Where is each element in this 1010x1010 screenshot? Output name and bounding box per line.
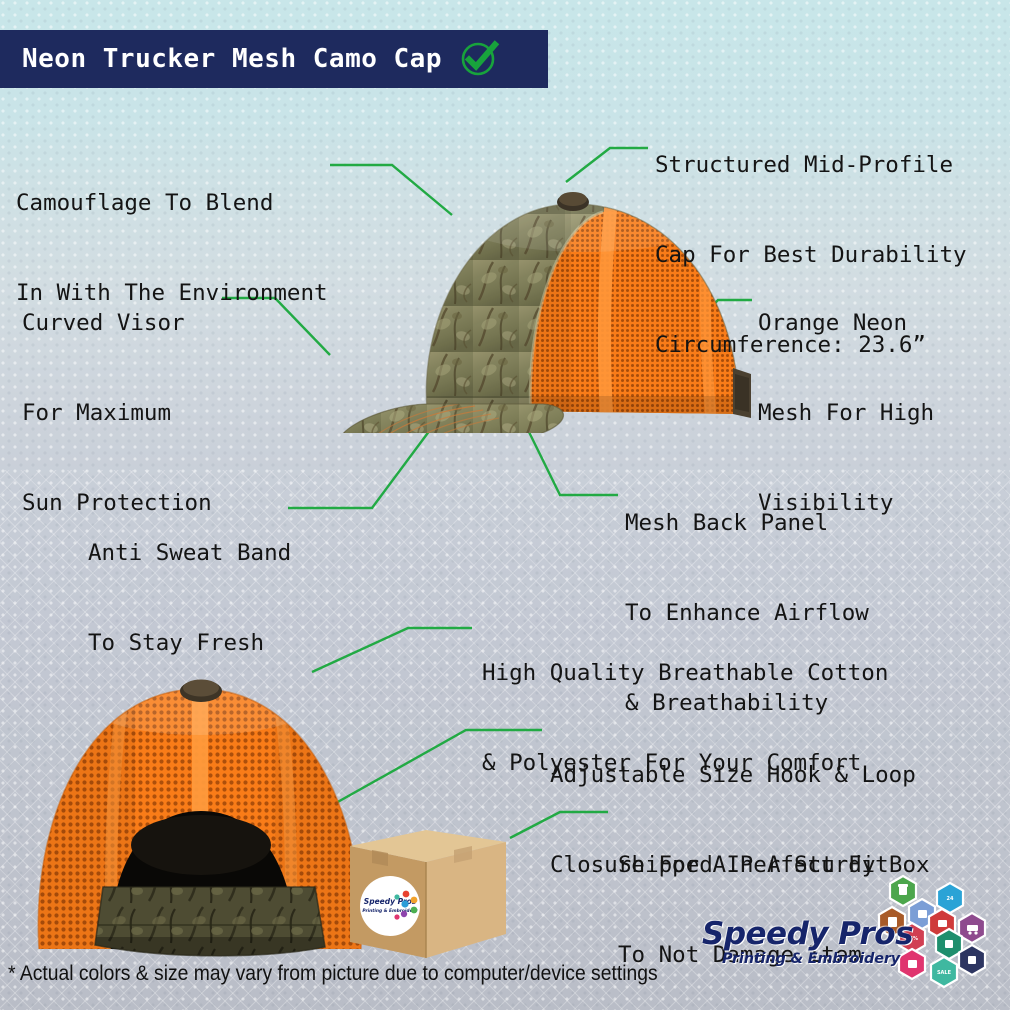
callout-line: Adjustable Size Hook & Loop <box>550 760 916 790</box>
leader-line-mesh-back <box>528 430 618 495</box>
svg-text:24: 24 <box>947 896 954 902</box>
speedy-pros-logo: 15% 24 SALE Speedy Pros Printing & Embro… <box>700 872 1000 990</box>
page-title: Neon Trucker Mesh Camo Cap <box>22 44 442 74</box>
box-sticker-tagline: Printing & Embroidery <box>362 908 418 914</box>
disclaimer-text: * Actual colors & size may vary from pic… <box>8 962 658 986</box>
callout-line: Structured Mid-Profile <box>655 150 967 180</box>
shipping-box-image: Speedy Pros Printing & Embroidery <box>348 818 508 966</box>
callout-anti-sweat-band: Anti Sweat Band To Stay Fresh <box>88 478 291 718</box>
logo-brand-text: Speedy Pros <box>702 916 913 952</box>
leader-line-anti-sweat <box>288 430 430 508</box>
logo-tagline-text: Printing & Embroidery <box>722 951 900 967</box>
callout-line: Orange Neon <box>758 308 934 338</box>
callout-line: To Stay Fresh <box>88 628 291 658</box>
svg-text:SALE: SALE <box>937 970 952 976</box>
infographic-page: Speedy Pros Printing & Embroidery Neon T… <box>0 0 1010 1010</box>
title-banner: Neon Trucker Mesh Camo Cap <box>0 30 548 88</box>
callout-line: Mesh For High <box>758 398 934 428</box>
callout-line: High Quality Breathable Cotton <box>482 658 888 688</box>
callout-line: Camouflage To Blend <box>16 188 328 218</box>
check-circle-icon <box>458 38 500 80</box>
callout-line: Anti Sweat Band <box>88 538 291 568</box>
callout-line: Curved Visor <box>22 308 212 338</box>
callout-line: Mesh Back Panel <box>625 508 869 538</box>
callout-line: For Maximum <box>22 398 212 428</box>
box-sticker-brand: Speedy Pros <box>364 897 417 906</box>
